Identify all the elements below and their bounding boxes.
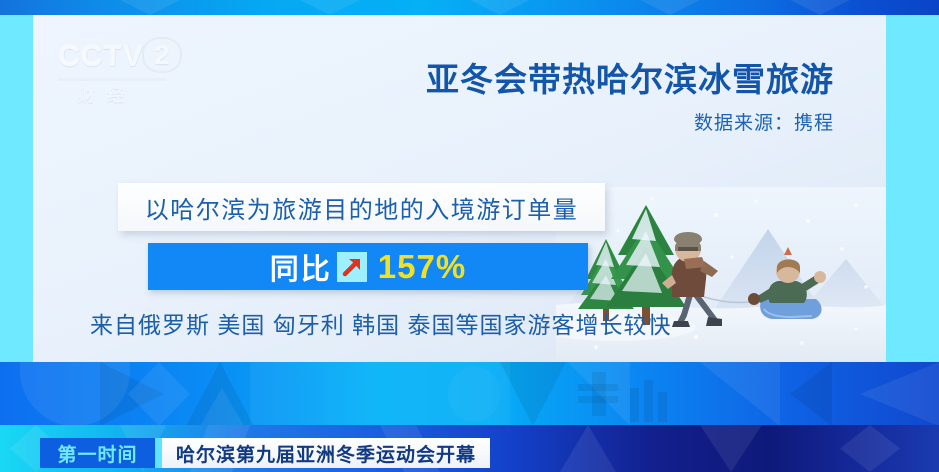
compare-label: 同比 (270, 246, 332, 288)
broadcast-screen: CCTV 2 财经 亚冬会带热哈尔滨冰雪旅游 数据来源：携程 (0, 0, 939, 472)
ticker-headline-text: 哈尔滨第九届亚洲冬季运动会开幕 (176, 440, 476, 467)
stat-value-bar: 同比 157% (148, 243, 588, 290)
cctv-logo-text: CCTV (58, 40, 144, 74)
stat-caption-card: 以哈尔滨为旅游目的地的入境游订单量 (118, 183, 605, 231)
data-source-label: 数据来源：携程 (694, 108, 834, 135)
stat-value: 157% (378, 248, 466, 286)
ticker-program-tag[interactable]: 第一时间 (40, 438, 155, 468)
ticker-separator (155, 438, 162, 468)
news-ticker: 第一时间 哈尔滨第九届亚洲冬季运动会开幕 (40, 438, 490, 468)
cctv-logo-subtitle: 财经 (78, 81, 136, 106)
ticker-tag-label: 第一时间 (57, 440, 137, 467)
left-cyan-rail (0, 15, 33, 362)
cctv-channel-number: 2 (142, 37, 182, 73)
stat-caption-text: 以哈尔滨为旅游目的地的入境游订单量 (145, 190, 579, 225)
up-arrow-icon (337, 252, 367, 282)
cctv-logo-watermark: CCTV 2 财经 (58, 40, 188, 105)
main-content-panel: CCTV 2 财经 亚冬会带热哈尔滨冰雪旅游 数据来源：携程 (33, 15, 886, 362)
page-title: 亚冬会带热哈尔滨冰雪旅游 (426, 53, 834, 101)
top-decorative-band (0, 0, 939, 15)
ticker-headline-box[interactable]: 哈尔滨第九届亚洲冬季运动会开幕 (162, 438, 490, 468)
stat-footnote: 来自俄罗斯 美国 匈牙利 韩国 泰国等国家游客增长较快 (90, 306, 672, 340)
right-cyan-rail (886, 15, 939, 362)
